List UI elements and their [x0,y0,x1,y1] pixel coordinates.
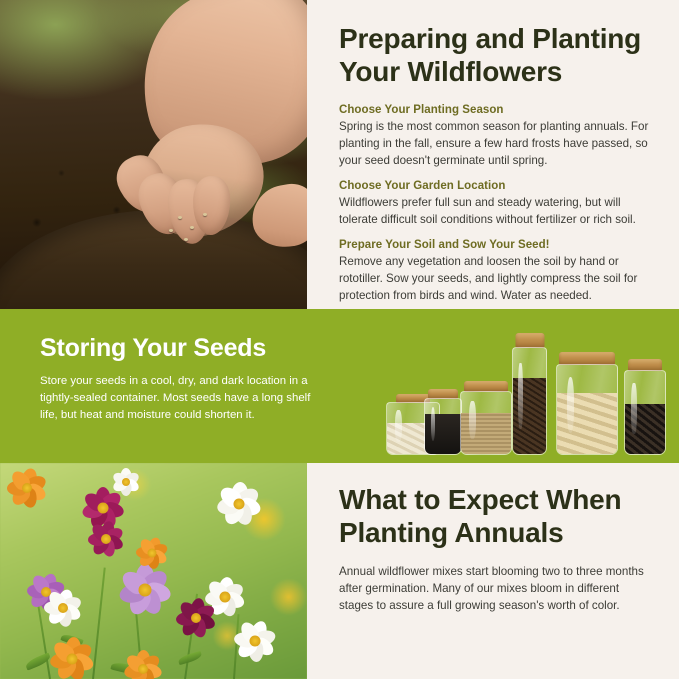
preparing-heading: Preparing and Planting Your Wildflowers [339,22,655,89]
prepare-soil-subheading: Prepare Your Soil and Sow Your Seed! [339,239,655,251]
flower-center [101,534,111,544]
glass-body [556,364,618,455]
glass-body [512,347,547,455]
glass-highlight [518,363,522,429]
flower-center [233,499,244,510]
prepare-soil-block: Prepare Your Soil and Sow Your Seed! Rem… [339,239,655,304]
jar-striped-sunflower [624,357,666,455]
wildflower-planting-infographic: Preparing and Planting Your Wildflowers … [0,0,679,679]
flower-white [233,619,277,663]
flower-center [148,549,157,558]
planting-season-block: Choose Your Planting Season Spring is th… [339,104,655,169]
flower-center [41,587,51,597]
flower-center [138,584,151,597]
storing-body: Store your seeds in a cool, dry, and dar… [40,373,330,425]
storing-seeds-band: Storing Your Seeds Store your seeds in a… [0,309,679,463]
garden-location-subheading: Choose Your Garden Location [339,180,655,192]
jar-tan-grain [460,379,512,455]
flower-center [122,478,130,486]
bottom-row: What to Expect When Planting Annuals Ann… [0,463,679,679]
storing-heading: Storing Your Seeds [40,335,330,363]
flower-center [138,664,148,674]
seed [203,213,207,216]
jar-black-seeds [424,387,462,455]
flower-orange [49,636,95,679]
storing-text-group: Storing Your Seeds Store your seeds in a… [40,335,330,424]
flower-center [191,613,201,623]
soil-planting-photo [0,0,307,309]
flower-center [250,635,261,646]
planting-season-subheading: Choose Your Planting Season [339,104,655,116]
flower-center [97,502,108,513]
seed-jars-photo [386,325,666,455]
flower-white-small [111,467,141,497]
flower-center [219,592,230,603]
top-row: Preparing and Planting Your Wildflowers … [0,0,679,309]
flower-deep-purple [175,597,217,639]
glass-body [460,391,512,455]
jar-large-pale-seed [556,350,618,455]
seed [190,226,194,229]
expect-body: Annual wildflower mixes start blooming t… [339,563,651,614]
jar-tall-dark-seed [512,333,547,455]
glass-highlight [631,383,636,434]
flower-center [22,483,32,493]
preparing-panel: Preparing and Planting Your Wildflowers … [312,0,679,309]
flower-center [67,653,78,664]
garden-location-block: Choose Your Garden Location Wildflowers … [339,180,655,228]
glass-highlight [567,377,575,432]
expect-panel: What to Expect When Planting Annuals Ann… [312,463,679,679]
glass-highlight [469,401,476,439]
garden-location-body: Wildflowers prefer full sun and steady w… [339,194,655,228]
flower-lilac [117,562,173,618]
seed [169,229,173,232]
expect-heading: What to Expect When Planting Annuals [339,483,651,550]
glass-body [624,370,666,455]
prepare-soil-body: Remove any vegetation and loosen the soi… [339,253,655,304]
flower-magenta [86,519,126,559]
glass-body [424,398,462,455]
flower-center [58,603,68,613]
flower-white [215,480,263,528]
wildflowers-photo [0,463,307,679]
cork-lid-icon [515,333,544,348]
planting-season-body: Spring is the most common season for pla… [339,118,655,169]
glass-highlight [395,410,402,442]
